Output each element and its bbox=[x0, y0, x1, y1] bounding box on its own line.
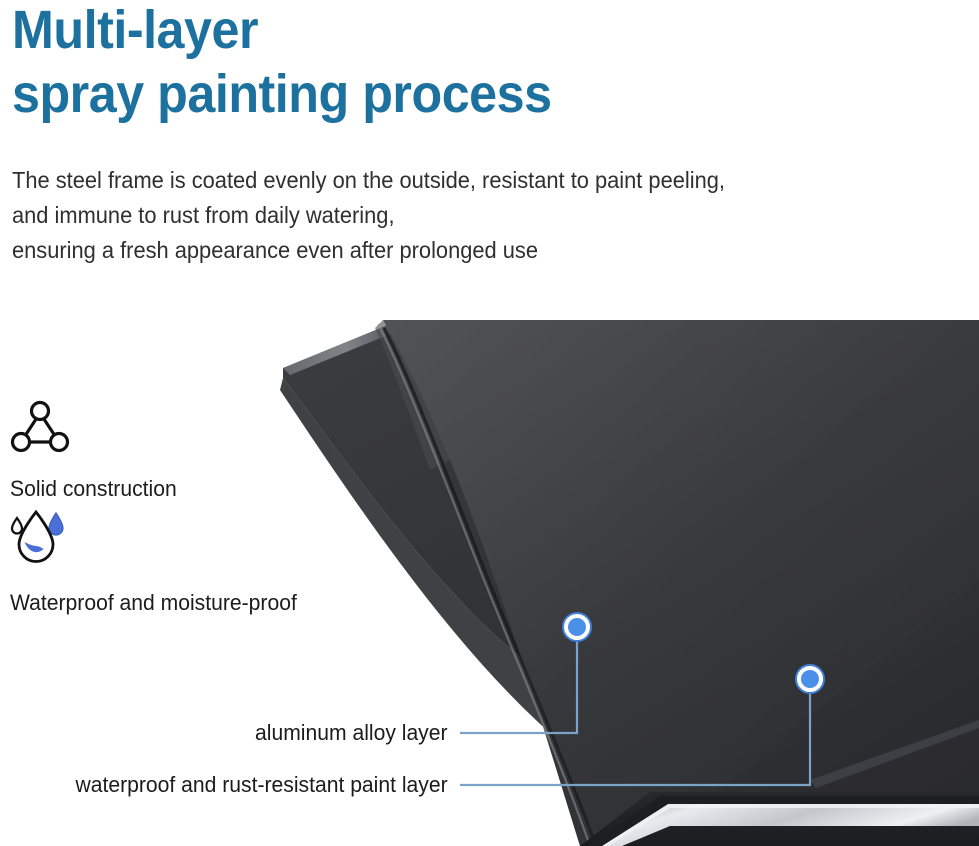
title-line-1: Multi-layer bbox=[12, 0, 756, 62]
feature-waterproof: Waterproof and moisture-proof bbox=[10, 506, 309, 617]
feature-label-solid-construction: Solid construction bbox=[10, 475, 177, 503]
page-title: Multi-layer spray painting process bbox=[12, 0, 812, 126]
description-line-3: ensuring a fresh appearance even after p… bbox=[12, 233, 886, 268]
callout-label-paint-layer: waterproof and rust-resistant paint laye… bbox=[76, 772, 448, 798]
product-photo bbox=[250, 280, 979, 846]
infographic-page: aluminum alloy layer waterproof and rust… bbox=[0, 0, 979, 846]
panel-illustration bbox=[250, 280, 979, 846]
feature-label-waterproof: Waterproof and moisture-proof bbox=[10, 589, 297, 617]
callout-label-aluminum-alloy-layer: aluminum alloy layer bbox=[255, 720, 448, 746]
title-line-2: spray painting process bbox=[12, 62, 756, 126]
description-line-1: The steel frame is coated evenly on the … bbox=[12, 163, 886, 198]
callout-marker-aluminum-alloy-layer[interactable] bbox=[562, 612, 592, 642]
water-droplet-icon bbox=[10, 506, 309, 573]
description-text: The steel frame is coated evenly on the … bbox=[12, 163, 932, 268]
callout-marker-paint-layer[interactable] bbox=[795, 664, 825, 694]
feature-solid-construction: Solid construction bbox=[10, 398, 184, 503]
description-line-2: and immune to rust from daily watering, bbox=[12, 198, 886, 233]
truss-triangle-icon bbox=[10, 398, 184, 461]
